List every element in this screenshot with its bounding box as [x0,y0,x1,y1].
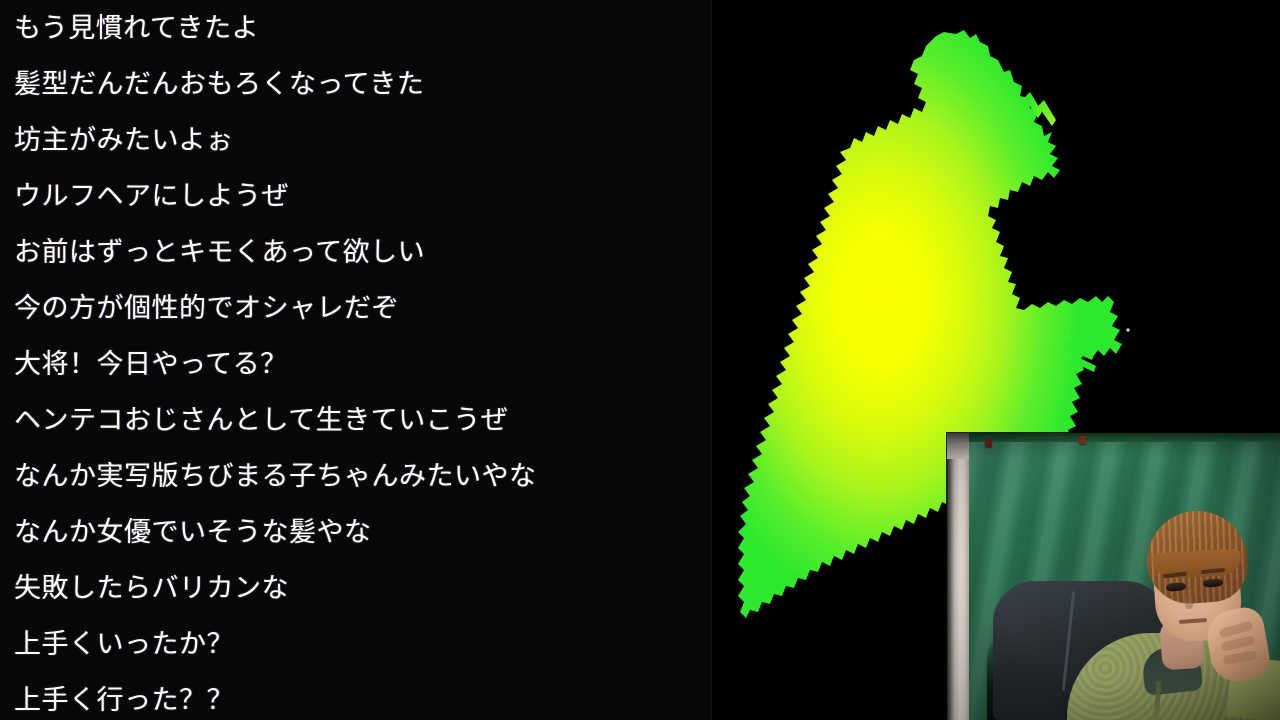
chat-message: なんか女優でいそうな髪やな [0,504,710,560]
webcam-overlay[interactable] [947,433,1280,720]
chat-message: ヘンテコおじさんとして生きていこうぜ [0,392,710,448]
door-frame-top [947,433,969,459]
curtain-clip [985,439,992,447]
nose [1185,589,1193,609]
chat-message: なんか実写版ちびまる子ちゃんみたいやな [0,448,710,504]
curtain-rod [967,433,1280,442]
curtain-clip [1079,436,1086,444]
chat-message-list: もう見慣れてきたよ髪型だんだんおもろくなってきた坊主がみたいよぉウルフヘアにしよ… [0,0,710,720]
chat-message: 髪型だんだんおもろくなってきた [0,56,710,112]
chat-message: お前はずっとキモくあって欲しい [0,224,710,280]
chat-message: 大将！今日やってる？ [0,336,710,392]
chat-message: 上手くいったか？ [0,616,710,672]
chat-message: ウルフヘアにしようぜ [0,168,710,224]
chat-message: 失敗したらバリカンな [0,560,710,616]
chat-message: 今の方が個性的でオシャレだぞ [0,280,710,336]
chat-panel: もう見慣れてきたよ髪型だんだんおもろくなってきた坊主がみたいよぉウルフヘアにしよ… [0,0,710,720]
map-offshore-dot [1126,328,1129,331]
chat-message: 上手く行った？？ [0,672,710,720]
chat-message: もう見慣れてきたよ [0,0,710,56]
door-frame [947,433,969,720]
stream-screen: もう見慣れてきたよ髪型だんだんおもろくなってきた坊主がみたいよぉウルフヘアにしよ… [0,0,1280,720]
chat-message: 坊主がみたいよぉ [0,112,710,168]
